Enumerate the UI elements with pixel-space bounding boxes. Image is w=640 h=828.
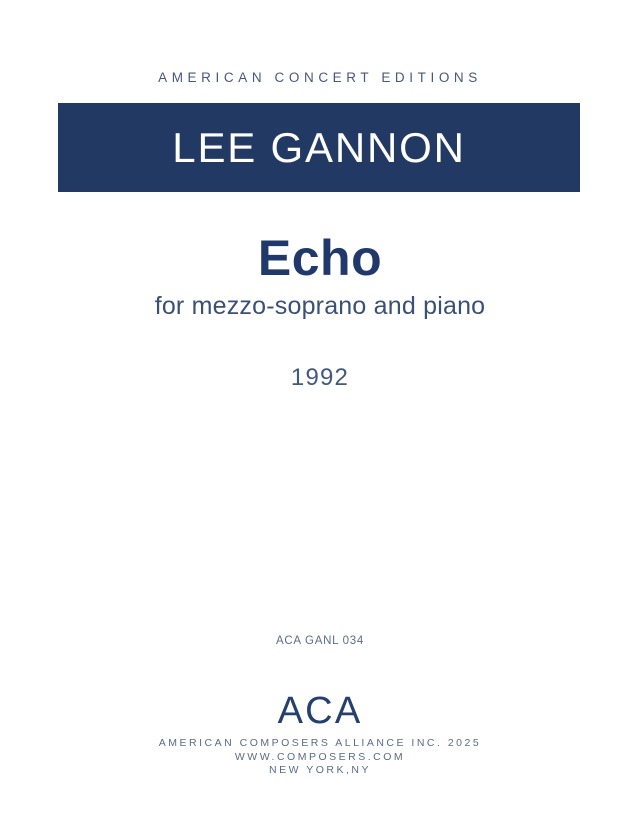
footer-line-website: WWW.COMPOSERS.COM [0, 751, 640, 765]
publisher-logo: ACA [0, 692, 640, 730]
composer-banner: LEE GANNON [58, 103, 580, 192]
work-title: Echo [0, 232, 640, 285]
catalog-number: ACA GANL 034 [0, 635, 640, 647]
score-cover-page: AMERICAN CONCERT EDITIONS LEE GANNON Ech… [0, 0, 640, 828]
work-year: 1992 [0, 364, 640, 392]
work-subtitle: for mezzo-soprano and piano [0, 291, 640, 321]
footer-line-location: NEW YORK,NY [0, 764, 640, 778]
series-imprint-label: AMERICAN CONCERT EDITIONS [0, 70, 640, 85]
composer-name: LEE GANNON [172, 127, 465, 169]
title-block: Echo for mezzo-soprano and piano [0, 232, 640, 321]
publisher-footer: AMERICAN COMPOSERS ALLIANCE INC. 2025 WW… [0, 737, 640, 778]
footer-line-organization: AMERICAN COMPOSERS ALLIANCE INC. 2025 [0, 737, 640, 751]
